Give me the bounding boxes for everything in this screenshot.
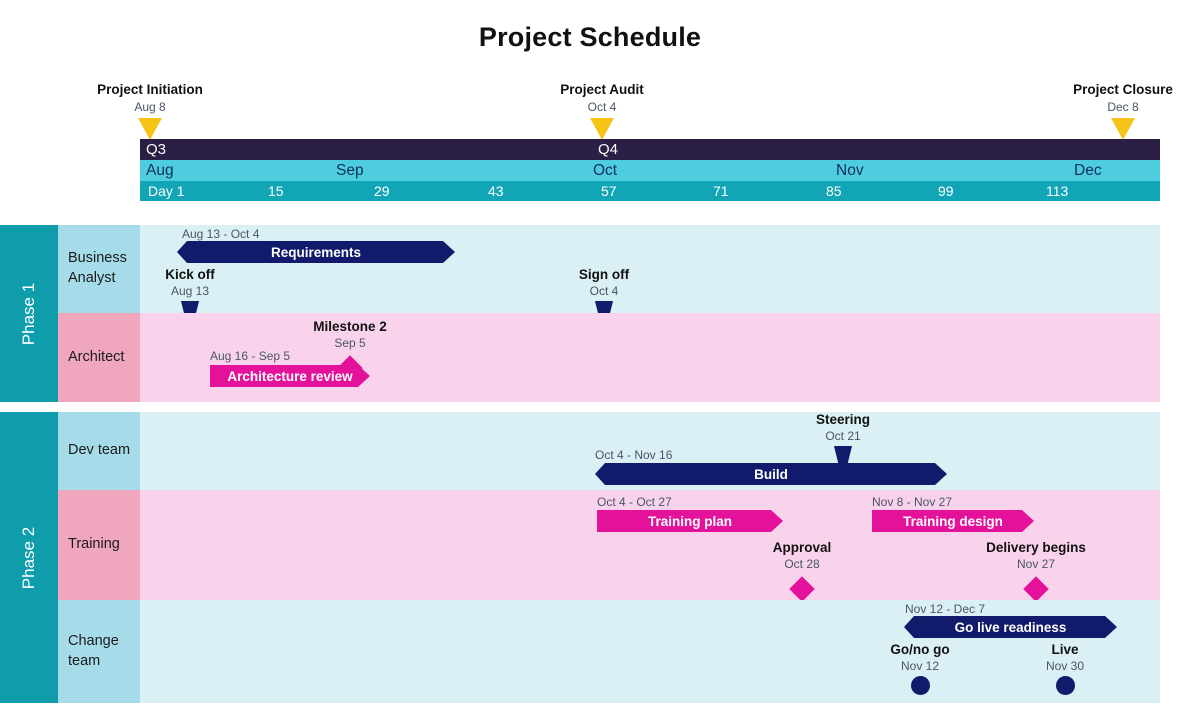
row-label: Architect [58, 313, 140, 402]
task-bar-go-live-readiness[interactable]: Go live readiness [904, 616, 1117, 638]
task-bar-architecture-review[interactable]: Architecture review [210, 365, 370, 387]
marker-delivery-begins[interactable]: Delivery begins Nov 27 [960, 540, 1112, 598]
timeline-day-tick: 71 [713, 181, 729, 201]
marker-label: Approval [747, 540, 857, 555]
task-bar-label: Architecture review [227, 369, 352, 384]
phase-band-2: Phase 2 [0, 412, 58, 703]
top-milestone-date: Dec 8 [1052, 100, 1180, 114]
marker-label: Live [1010, 642, 1120, 657]
task-bar-build[interactable]: Build [595, 463, 947, 485]
marker-date: Nov 30 [1010, 659, 1120, 673]
row-label: Training [58, 490, 140, 600]
task-bar-label: Requirements [271, 245, 361, 260]
row-architect: Architect Milestone 2 Sep 5 Aug 16 - Sep… [58, 313, 1160, 402]
timeline-month-cell: Dec [1068, 160, 1166, 181]
bar-range-label: Oct 4 - Nov 16 [595, 448, 672, 462]
timeline-day-tick: 99 [938, 181, 954, 201]
phase-block-2: Phase 2 Dev team Steering Oct 21 Oct 4 -… [0, 412, 1160, 703]
timeline-month-row: Aug Sep Oct Nov Dec [140, 160, 1160, 181]
task-bar-training-design[interactable]: Training design [872, 510, 1034, 532]
marker-label: Sign off [554, 267, 654, 282]
marker-date: Sep 5 [295, 336, 405, 350]
row-label: Change team [58, 600, 140, 703]
timeline-day-tick: Day 1 [148, 181, 185, 201]
bar-range-label: Aug 13 - Oct 4 [182, 227, 259, 241]
row-track: Aug 13 - Oct 4 Requirements Kick off Aug… [140, 225, 1160, 313]
top-milestone-project-audit[interactable]: Project Audit Oct 4 [532, 82, 672, 140]
marker-label: Steering [793, 412, 893, 427]
diamond-marker-icon [1023, 576, 1048, 601]
phase-band-label: Phase 1 [19, 282, 39, 344]
timeline-month-cell: Aug [140, 160, 336, 181]
yellow-triangle-down-icon [138, 118, 162, 140]
row-track: Oct 4 - Oct 27 Training plan Nov 8 - Nov… [140, 490, 1160, 600]
bar-range-label: Nov 12 - Dec 7 [905, 602, 985, 616]
task-bar-training-plan[interactable]: Training plan [597, 510, 783, 532]
marker-date: Aug 13 [140, 284, 240, 298]
timeline-month-cell: Nov [830, 160, 1026, 181]
timeline-month-cell: Sep [330, 160, 526, 181]
page-title: Project Schedule [0, 22, 1180, 53]
row-dev-team: Dev team Steering Oct 21 Oct 4 - Nov 16 … [58, 412, 1160, 490]
marker-steering[interactable]: Steering Oct 21 [793, 412, 893, 465]
task-bar-label: Training plan [648, 514, 732, 529]
marker-go-no-go[interactable]: Go/no go Nov 12 [865, 642, 975, 695]
marker-date: Oct 21 [793, 429, 893, 443]
marker-label: Kick off [140, 267, 240, 282]
timeline-quarter-cell: Q4 [592, 139, 1166, 160]
diamond-marker-icon [789, 576, 814, 601]
marker-live[interactable]: Live Nov 30 [1010, 642, 1120, 695]
yellow-triangle-down-icon [1111, 118, 1135, 140]
bar-range-label: Nov 8 - Nov 27 [872, 495, 952, 509]
phase-block-1: Phase 1 Business Analyst Aug 13 - Oct 4 … [0, 225, 1160, 402]
bar-range-label: Aug 16 - Sep 5 [210, 349, 290, 363]
marker-date: Oct 28 [747, 557, 857, 571]
row-track: Milestone 2 Sep 5 Aug 16 - Sep 5 Archite… [140, 313, 1160, 402]
row-track: Steering Oct 21 Oct 4 - Nov 16 Build [140, 412, 1160, 490]
timeline-day-tick: 15 [268, 181, 284, 201]
marker-label: Go/no go [865, 642, 975, 657]
timeline-quarter-cell: Q3 [140, 139, 601, 160]
circle-marker-icon [1056, 676, 1075, 695]
task-bar-requirements[interactable]: Requirements [177, 241, 455, 263]
phase-band-label: Phase 2 [19, 526, 39, 588]
row-label: Dev team [58, 412, 140, 490]
timeline-header: Q3 Q4 Aug Sep Oct Nov Dec Day 1 15 29 43… [140, 139, 1160, 201]
marker-label: Milestone 2 [295, 319, 405, 334]
timeline-day-tick: 29 [374, 181, 390, 201]
timeline-day-tick: 57 [601, 181, 617, 201]
marker-label: Delivery begins [960, 540, 1112, 555]
marker-date: Nov 27 [960, 557, 1112, 571]
task-bar-label: Training design [903, 514, 1003, 529]
row-training: Training Oct 4 - Oct 27 Training plan No… [58, 490, 1160, 600]
timeline-day-tick: 85 [826, 181, 842, 201]
marker-approval[interactable]: Approval Oct 28 [747, 540, 857, 598]
row-track: Nov 12 - Dec 7 Go live readiness Go/no g… [140, 600, 1160, 703]
timeline-month-cell: Oct [587, 160, 783, 181]
marker-date: Oct 4 [554, 284, 654, 298]
top-milestone-project-initiation[interactable]: Project Initiation Aug 8 [80, 82, 220, 140]
top-milestone-project-closure[interactable]: Project Closure Dec 8 [1052, 82, 1180, 140]
marker-date: Nov 12 [865, 659, 975, 673]
timeline-quarter-row: Q3 Q4 [140, 139, 1160, 160]
top-milestone-label: Project Initiation [80, 82, 220, 97]
timeline-day-tick: 43 [488, 181, 504, 201]
row-change-team: Change team Nov 12 - Dec 7 Go live readi… [58, 600, 1160, 703]
circle-marker-icon [911, 676, 930, 695]
bar-range-label: Oct 4 - Oct 27 [597, 495, 672, 509]
top-milestone-label: Project Closure [1052, 82, 1180, 97]
gantt-chart-canvas: Project Schedule Project Initiation Aug … [0, 0, 1180, 707]
task-bar-label: Build [754, 467, 788, 482]
yellow-triangle-down-icon [590, 118, 614, 140]
timeline-day-row: Day 1 15 29 43 57 71 85 99 113 [140, 181, 1160, 201]
top-milestone-date: Oct 4 [532, 100, 672, 114]
phase-band-1: Phase 1 [0, 225, 58, 402]
top-milestone-date: Aug 8 [80, 100, 220, 114]
timeline-day-tick: 113 [1046, 181, 1068, 201]
row-label: Business Analyst [58, 225, 140, 313]
row-business-analyst: Business Analyst Aug 13 - Oct 4 Requirem… [58, 225, 1160, 313]
top-milestone-label: Project Audit [532, 82, 672, 97]
task-bar-label: Go live readiness [955, 620, 1067, 635]
